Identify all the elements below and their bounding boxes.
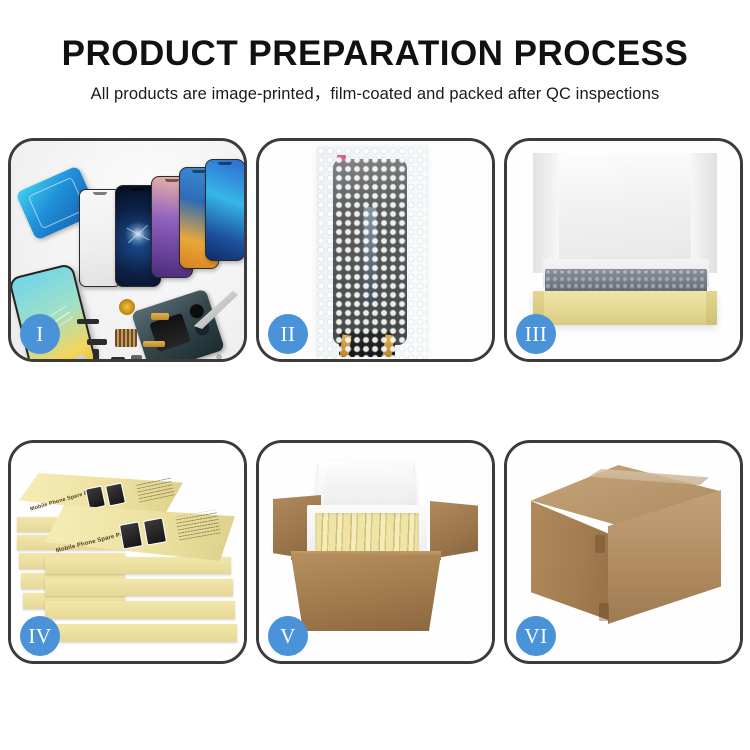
carton-body [291,555,441,631]
packed-retail-boxes [315,513,419,555]
carton-seam-bottom [599,603,609,621]
part-coil [119,299,135,315]
process-step-2: II [256,138,495,362]
box-lid [533,153,717,273]
process-step-4: Mobile Phone Spare Parts Mobile Phone Sp… [8,440,247,664]
step-badge-2: II [268,314,308,354]
bubble-texture [317,147,427,359]
process-step-5: V [256,440,495,664]
step-badge-6: VI [516,616,556,656]
part-mesh [115,329,137,347]
process-step-1: I [8,138,247,362]
part-camera [111,357,125,359]
part-flex-cable-2 [143,341,165,347]
screen-graphic [123,219,153,249]
page-subtitle: All products are image-printed，film-coat… [0,74,750,105]
retail-box-edge-7 [45,579,233,596]
carton-seam-top [595,535,605,553]
retail-box-product-image-4 [143,517,167,545]
notch-icon [131,188,145,191]
box-front-panel [533,291,717,325]
part-strip [93,349,99,359]
bubble-wrap-bag [317,147,427,359]
part-connector [87,339,107,345]
process-step-6: VI [504,440,743,664]
retail-box-product-image-3 [119,521,143,549]
retail-box-edge-9 [45,624,237,642]
step-badge-4: IV [20,616,60,656]
process-step-3: III [504,138,743,362]
page-title: PRODUCT PREPARATION PROCESS [0,0,750,74]
step-badge-5: V [268,616,308,656]
process-step-grid: I II III [8,138,742,664]
step-badge-1: I [20,314,60,354]
notch-icon [192,170,206,173]
step-badge-3: III [516,314,556,354]
retail-box-edge-6 [45,557,231,574]
part-sim-tray [77,355,85,359]
notch-icon [218,162,232,165]
part-screw-1 [217,355,221,359]
part-speaker [131,355,142,359]
notch-icon [165,179,179,182]
notch-icon [93,192,107,195]
page-header: PRODUCT PREPARATION PROCESS All products… [0,0,750,105]
part-flex-cable-1 [151,313,169,320]
retail-box-edge-8 [45,601,235,619]
part-bar [77,319,99,324]
phone-screen-5 [205,159,244,261]
